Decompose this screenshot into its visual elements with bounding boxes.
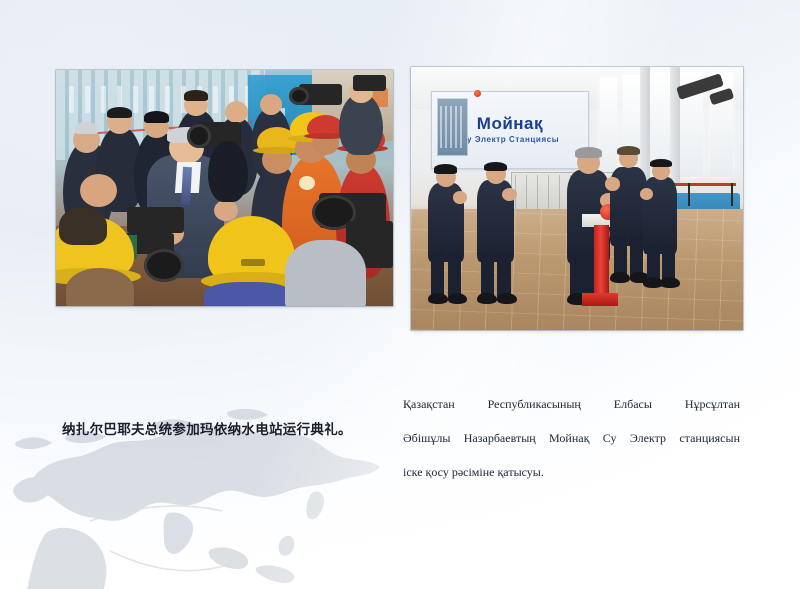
caption-kazakh-line-1: Қазақстан Республикасының Елбасы Нұрсұлт…	[403, 396, 740, 430]
caption-kazakh-line-3: іске қосу рәсіміне қатысуы.	[403, 464, 740, 481]
caption-kazakh: Қазақстан Республикасының Елбасы Нұрсұлт…	[403, 396, 740, 481]
ceremony-podium-column	[594, 225, 609, 296]
photo-nazarbayev-with-workers	[56, 70, 393, 306]
banner-subtitle: Су Электр Станциясы	[461, 135, 560, 144]
world-map-watermark	[0, 381, 392, 589]
ceremony-podium-base	[582, 293, 619, 306]
banner-thumbnail-image	[437, 98, 468, 156]
photo-book-page: Мойнақ Су Электр Станциясы	[0, 0, 800, 589]
caption-chinese: 纳扎尔巴耶夫总统参加玛依纳水电站运行典礼。	[62, 420, 382, 440]
photo-moynak-launch-ceremony: Мойнақ Су Электр Станциясы	[411, 67, 743, 330]
caption-kazakh-line-2: Әбішұлы Назарбаевтың Мойнақ Су Электр ст…	[403, 430, 740, 464]
banner-title: Мойнақ	[477, 115, 543, 132]
banner-accent-dot	[474, 90, 481, 97]
moynak-banner: Мойнақ Су Электр Станциясы	[431, 91, 589, 169]
